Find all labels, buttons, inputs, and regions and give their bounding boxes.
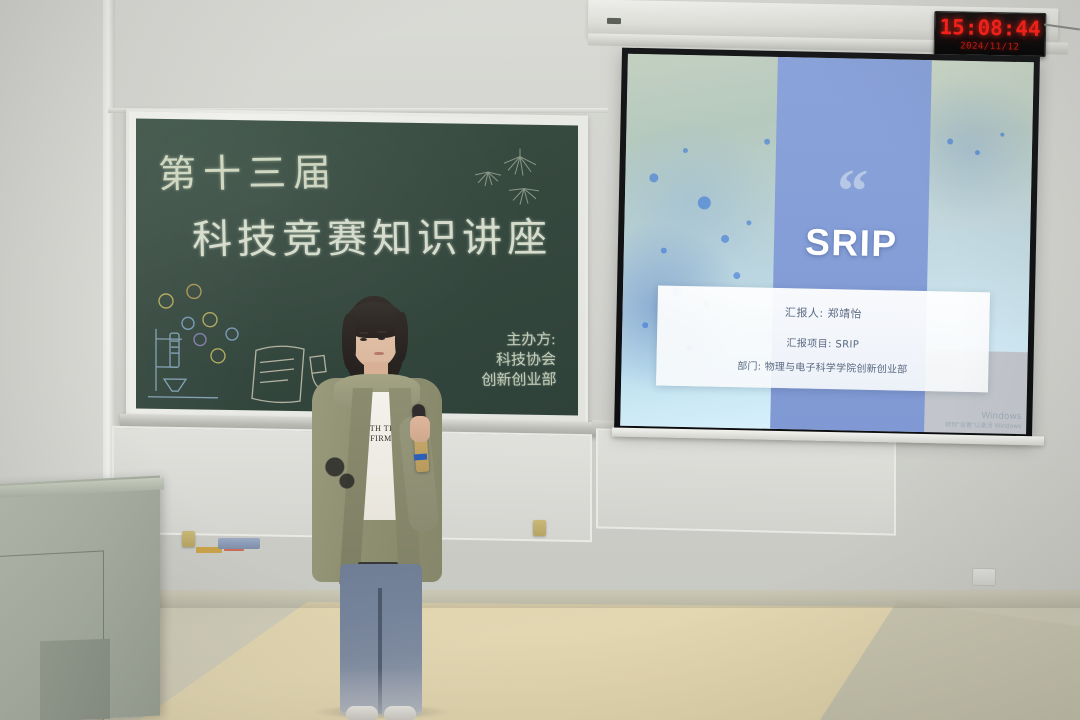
presenter-shoe-right — [384, 706, 416, 720]
slide-project-line: 汇报项目: SRIP — [656, 331, 989, 353]
projection-screen: “ SRIP 汇报人: 郑靖怡 汇报项目: SRIP 部门: 物理与电子科学学院… — [614, 48, 1040, 441]
presenter-jacket-graphic — [316, 443, 364, 506]
presenter-brow-left — [359, 332, 368, 334]
clock-date-display: 2024/11/12 — [935, 41, 1045, 53]
slide-info-card: 汇报人: 郑靖怡 汇报项目: SRIP 部门: 物理与电子科学学院创新创业部 — [655, 285, 990, 392]
organizer-line-3: 创新创业部 — [481, 370, 557, 391]
slide-presenter-line: 汇报人: 郑靖怡 — [657, 301, 990, 324]
blackboard-organizer: 主办方: 科技协会 创新创业部 — [480, 330, 557, 391]
chalk-fireworks-icon — [462, 138, 552, 219]
classroom-scene: 第十三届 科技竞赛知识讲座 主办方: 科技协会 创新创业部 — [0, 0, 1080, 720]
lower-wall-board-right — [596, 428, 896, 535]
watermark-line-2: 转到"设置"以激活 Windows — [945, 422, 1021, 431]
housing-latch-icon — [607, 18, 621, 24]
presenter-eye-left — [360, 338, 367, 341]
podium-base — [40, 639, 110, 720]
cup-right — [533, 520, 546, 536]
cup-left — [182, 531, 195, 547]
presentation-slide: “ SRIP 汇报人: 郑靖怡 汇报项目: SRIP 部门: 物理与电子科学学院… — [620, 54, 1034, 434]
organizer-line-1: 主办方: — [480, 330, 556, 351]
quote-mark-icon: “ — [836, 170, 868, 214]
presenter-hand — [410, 416, 430, 442]
presenter-shoe-left — [346, 706, 378, 720]
wall-outlet — [972, 568, 996, 586]
presenter: ITH TH FIRM — [300, 296, 460, 720]
presenter-mouth — [374, 352, 384, 355]
presenter-hair-right — [395, 312, 408, 362]
windows-activation-watermark: Windows 转到"设置"以激活 Windows — [945, 410, 1022, 431]
floor-wall-shadow — [0, 592, 1080, 608]
organizer-line-2: 科技协会 — [481, 350, 557, 371]
presenter-hair-left — [342, 314, 356, 370]
presenter-eye-right — [378, 337, 385, 340]
blackboard-title-line1: 第十三届 — [157, 141, 338, 198]
microphone-ring — [414, 454, 427, 461]
slide-title: SRIP — [774, 221, 929, 266]
screen-bezel: “ SRIP 汇报人: 郑靖怡 汇报项目: SRIP 部门: 物理与电子科学学院… — [614, 48, 1040, 441]
presenter-brow-right — [377, 331, 386, 333]
digital-clock: 15:08:44 2024/11/12 — [934, 11, 1047, 57]
clock-time-display: 15:08:44 — [935, 15, 1045, 41]
slide-department-line: 部门: 物理与电子科学学院创新创业部 — [656, 355, 989, 377]
board-eraser — [218, 538, 260, 549]
